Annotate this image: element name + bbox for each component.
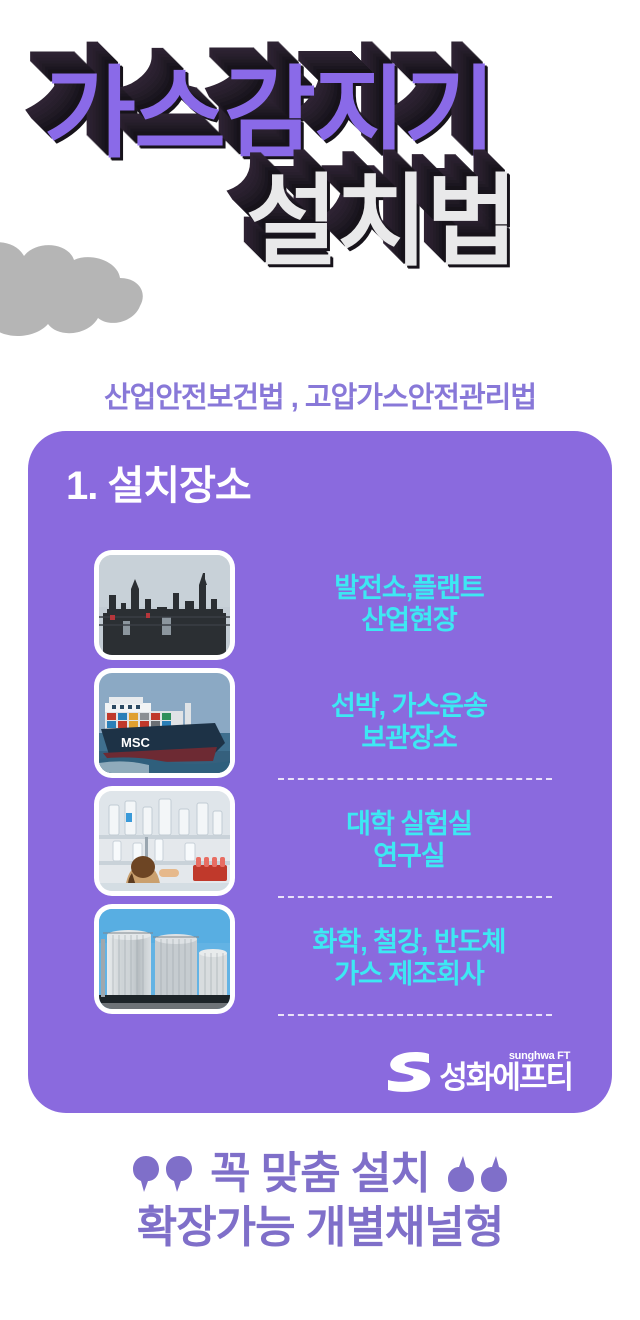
- list-divider: [278, 778, 552, 780]
- poster-footer: 꼭 맞춤 설치 확장가능 개별채널형: [0, 1148, 640, 1254]
- list-item: 대학 실험실 연구실: [28, 782, 612, 900]
- list-item-label: 발전소,플랜트 산업현장: [230, 573, 612, 637]
- close-quote-icon: [446, 1154, 508, 1194]
- list-item: MSC 선박, 가스운송 보관장소: [28, 664, 612, 782]
- petrochemical-plant-photo: [99, 555, 230, 655]
- ship-hull-text: MSC: [121, 735, 151, 750]
- poster-title: 가스감지기 설치법: [0, 52, 640, 352]
- title-line-1: 가스감지기: [44, 64, 494, 164]
- open-quote-icon: [132, 1154, 194, 1194]
- card-heading: 1. 설치장소: [66, 453, 251, 511]
- list-item-label: 화학, 철강, 반도체 가스 제조회사: [230, 927, 612, 991]
- footer-line-1-row: 꼭 맞춤 설치: [0, 1148, 640, 1200]
- install-location-card: 1. 설치장소: [28, 431, 612, 1113]
- container-ship-photo: MSC: [99, 673, 230, 773]
- logo-subtext: sunghwa FT: [509, 1050, 570, 1062]
- list-divider: [278, 1014, 552, 1016]
- storage-tanks-photo: [99, 909, 230, 1009]
- list-item-label: 대학 실험실 연구실: [230, 809, 612, 873]
- footer-line-2: 확장가능 개별채널형: [0, 1202, 640, 1254]
- list-item: 화학, 철강, 반도체 가스 제조회사: [28, 900, 612, 1018]
- title-line-2: 설치법: [246, 172, 516, 272]
- logo-name: 성화에프티: [439, 1062, 572, 1093]
- footer-line-1: 꼭 맞춤 설치: [210, 1148, 430, 1200]
- company-logo: sunghwa FT 성화에프티: [385, 1050, 572, 1093]
- laboratory-photo: [99, 791, 230, 891]
- list-item: 발전소,플랜트 산업현장: [28, 546, 612, 664]
- s-swoosh-icon: [385, 1051, 431, 1093]
- location-list: 발전소,플랜트 산업현장: [28, 546, 612, 1018]
- poster-subtitle: 산업안전보건법 , 고압가스안전관리법: [0, 374, 640, 416]
- poster-root: 가스감지기 설치법 산업안전보건법 , 고압가스안전관리법 1. 설치장소: [0, 0, 640, 1320]
- list-divider: [278, 896, 552, 898]
- list-item-label: 선박, 가스운송 보관장소: [230, 691, 612, 755]
